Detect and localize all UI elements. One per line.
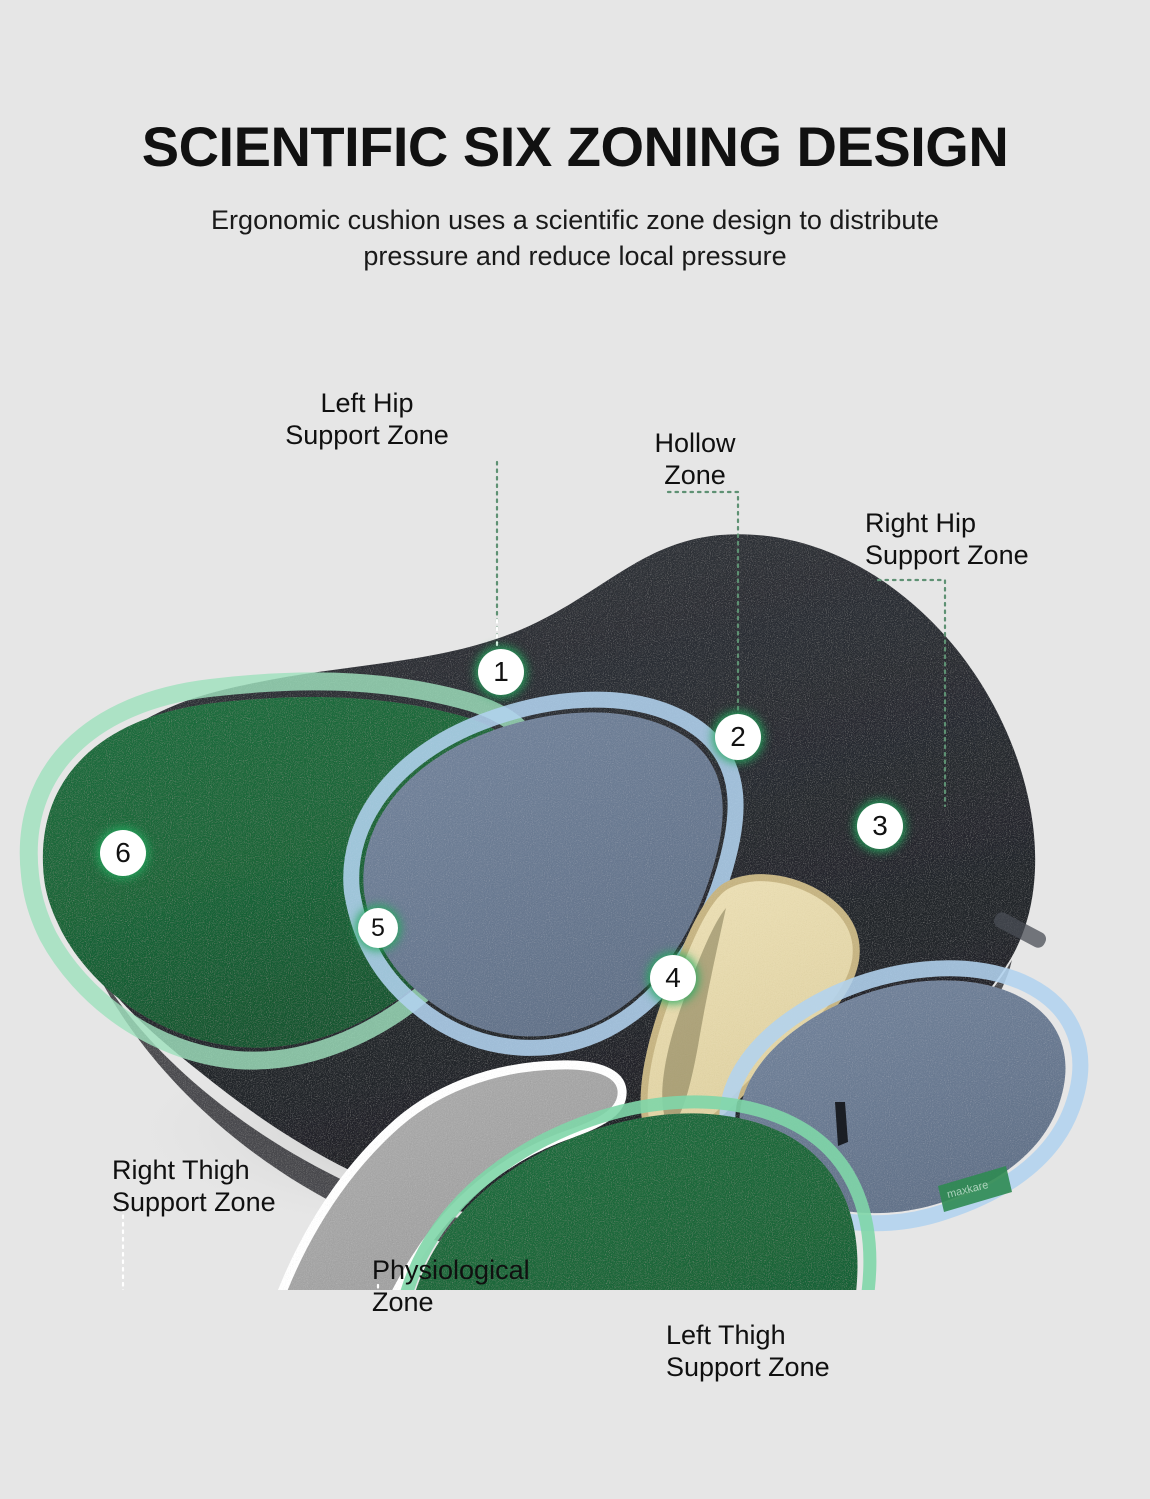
cushion-illustration: maxkare: [0, 330, 1150, 1290]
label-right-thigh-support-zone: Right Thigh Support Zone: [112, 1155, 412, 1219]
label-left-thigh-support-zone: Left Thigh Support Zone: [666, 1320, 966, 1384]
infographic-page: SCIENTIFIC SIX ZONING DESIGN Ergonomic c…: [0, 0, 1150, 1499]
label-hollow-zone: Hollow Zone: [580, 428, 810, 492]
header-block: SCIENTIFIC SIX ZONING DESIGN Ergonomic c…: [0, 118, 1150, 275]
page-title: SCIENTIFIC SIX ZONING DESIGN: [0, 118, 1150, 177]
zone-badge-4: 4: [650, 955, 696, 1001]
label-right-hip-support-zone: Right Hip Support Zone: [865, 508, 1115, 572]
page-subtitle: Ergonomic cushion uses a scientific zone…: [175, 203, 975, 275]
zone-badge-6: 6: [100, 830, 146, 876]
label-left-hip-support-zone: Left Hip Support Zone: [222, 388, 512, 452]
zone-badge-1: 1: [478, 649, 524, 695]
zone-badge-2: 2: [715, 714, 761, 760]
zone-badge-3: 3: [857, 803, 903, 849]
zone-badge-5: 5: [358, 908, 398, 948]
label-physiological-zone: Physiological Zone: [372, 1255, 672, 1319]
